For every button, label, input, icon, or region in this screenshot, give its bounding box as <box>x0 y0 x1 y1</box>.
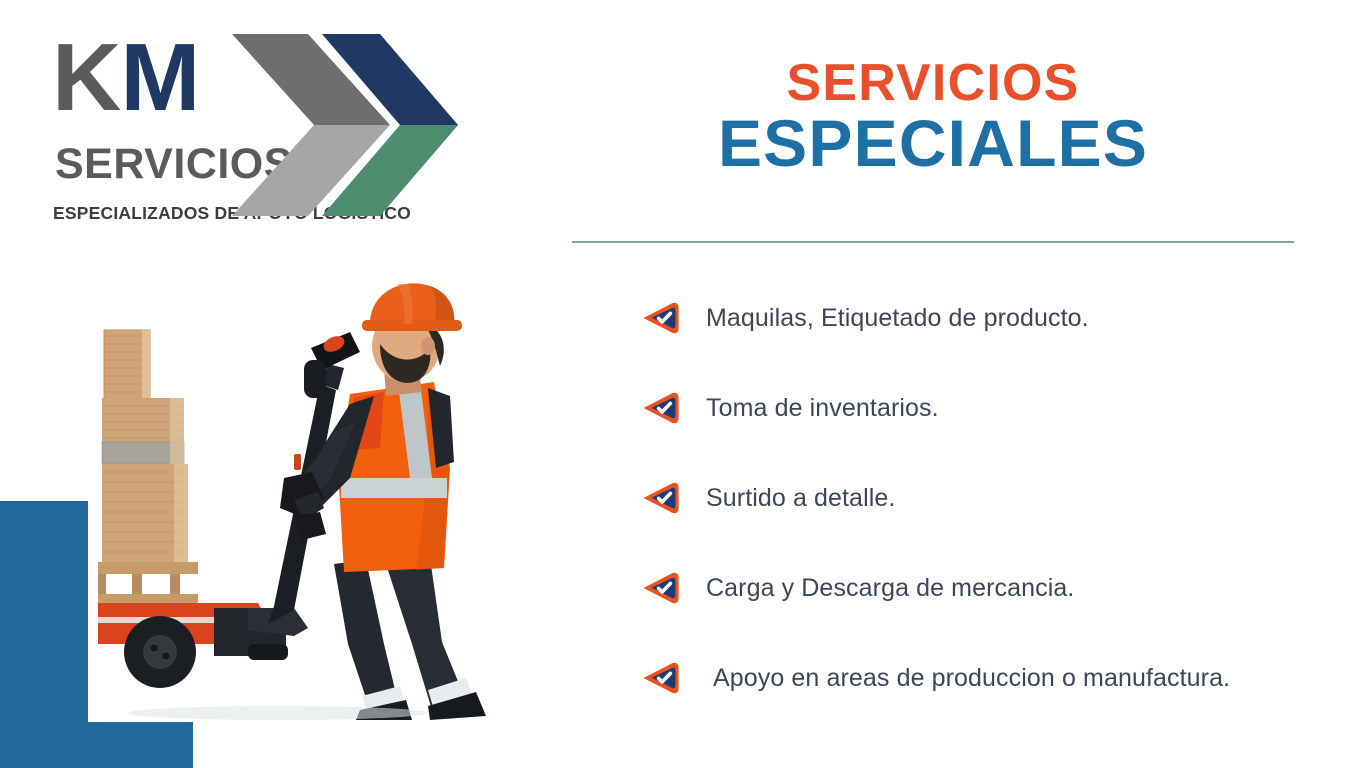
list-item-label: Apoyo en areas de produccion o manufactu… <box>706 663 1230 693</box>
check-arrow-icon <box>640 477 682 519</box>
title-line-servicios: SERVICIOS <box>572 56 1294 110</box>
check-arrow-icon <box>640 567 682 609</box>
title-line-especiales: ESPECIALES <box>572 110 1294 177</box>
content-column: SERVICIOS ESPECIALES Maquilas, Etiquetad… <box>572 56 1294 177</box>
list-item: Maquilas, Etiquetado de producto. <box>640 296 1300 340</box>
title-divider <box>572 241 1294 243</box>
logo-letter-m: M <box>120 24 199 131</box>
page-title: SERVICIOS ESPECIALES <box>572 56 1294 177</box>
logo-wordmark-km: KM <box>52 30 199 126</box>
list-item: Toma de inventarios. <box>640 386 1300 430</box>
logo-letter-k: K <box>52 24 120 131</box>
worker-photo-illustration <box>98 272 490 720</box>
check-arrow-icon <box>640 297 682 339</box>
company-logo: KM SERVICIOS ESPECIALIZADOS DE APOYO LOG… <box>52 30 452 235</box>
double-chevron-right-icon <box>230 32 460 222</box>
slide-root: KM SERVICIOS ESPECIALIZADOS DE APOYO LOG… <box>0 0 1366 768</box>
worker-photo <box>98 272 490 720</box>
services-list: Maquilas, Etiquetado de producto. Toma d… <box>640 296 1300 700</box>
list-item-label: Toma de inventarios. <box>706 393 939 423</box>
list-item: Apoyo en areas de produccion o manufactu… <box>640 656 1300 700</box>
list-item-label: Surtido a detalle. <box>706 483 895 513</box>
list-item: Surtido a detalle. <box>640 476 1300 520</box>
decorative-blue-block-horizontal <box>0 722 193 768</box>
list-item-label: Carga y Descarga de mercancia. <box>706 573 1074 603</box>
list-item-label: Maquilas, Etiquetado de producto. <box>706 303 1089 333</box>
check-arrow-icon <box>640 657 682 699</box>
check-arrow-icon <box>640 387 682 429</box>
list-item: Carga y Descarga de mercancia. <box>640 566 1300 610</box>
